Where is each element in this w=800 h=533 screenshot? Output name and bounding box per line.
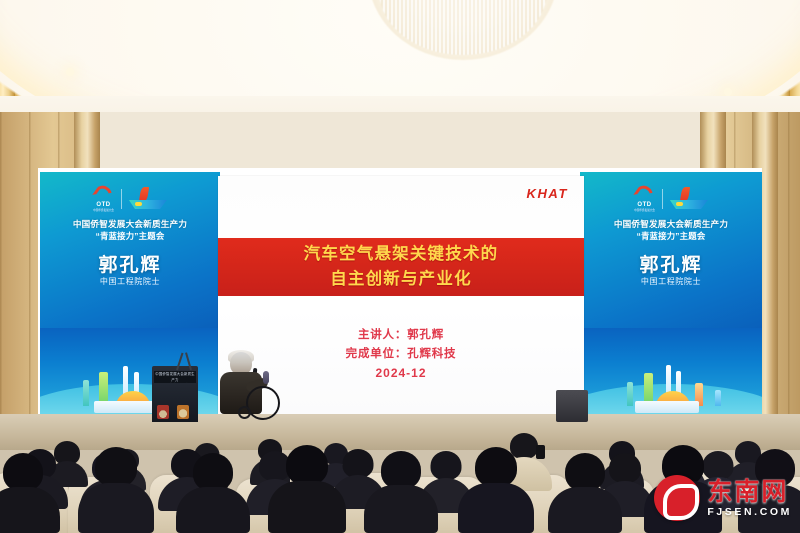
banner-headline-line1: 中国侨智发展大会新质生产力 xyxy=(580,218,762,230)
audience-person xyxy=(176,453,250,533)
otd-logo-icon: OTD 中国华侨发展大会 xyxy=(634,186,655,213)
handheld-microphone-icon xyxy=(263,371,269,384)
otd-logo-icon: OTD 中国华侨发展大会 xyxy=(93,186,114,213)
banner-speaker-role: 中国工程院院士 xyxy=(40,276,220,287)
smartphone-icon xyxy=(536,445,545,459)
otd-logo-text: OTD xyxy=(96,202,110,209)
audience-person xyxy=(364,451,438,533)
banner-speaker-role: 中国工程院院士 xyxy=(580,276,762,287)
banner-logo-row: OTD 中国华侨发展大会 xyxy=(580,184,762,214)
person-head xyxy=(475,447,517,487)
watermark: 东南网 FJSEN.COM xyxy=(654,471,792,525)
person-shoulders xyxy=(548,487,622,533)
conference-photo-scene: OTD 中国华侨发展大会 中国侨智发展大会新质生产力 “青蓝接力”主题会 郭孔辉… xyxy=(0,0,800,533)
person-head xyxy=(193,453,233,491)
dongnan-knot-logo-icon xyxy=(654,475,700,521)
logo-divider xyxy=(121,189,122,209)
person-shoulders xyxy=(364,485,438,533)
slide-title-line2: 自主创新与产业化 xyxy=(330,267,472,292)
hull-accent-icon xyxy=(135,202,142,206)
downlight-icon xyxy=(724,88,732,96)
person-shoulders xyxy=(0,487,60,533)
person-head xyxy=(3,453,43,491)
banner-speaker-name: 郭孔辉 xyxy=(40,250,220,277)
slide-presenter: 主讲人：郭孔辉 xyxy=(218,326,584,345)
audience-person xyxy=(458,447,534,533)
downlight-icon xyxy=(66,68,74,76)
person-shoulders xyxy=(78,483,154,533)
person-head xyxy=(565,453,605,491)
banner-headline-line2: “青蓝接力”主题会 xyxy=(40,230,220,242)
banner-speaker-name: 郭孔辉 xyxy=(580,250,762,277)
watermark-domain: FJSEN.COM xyxy=(707,506,792,518)
otd-logo-text: OTD xyxy=(637,202,651,209)
podium-signage: 中国侨智发展大会新质生产力 “青蓝接力”主题会 xyxy=(154,371,196,383)
banner-headline-line1: 中国侨智发展大会新质生产力 xyxy=(40,218,220,230)
slide-title-line1: 汽车空气悬架关键技术的 xyxy=(304,242,499,267)
person-shoulders xyxy=(458,483,534,533)
khat-logo: KHAT xyxy=(526,186,568,201)
person-shoulders xyxy=(268,481,346,533)
sail-icon xyxy=(139,187,149,202)
sail-icon xyxy=(680,187,690,202)
audience-person xyxy=(548,453,622,533)
audience-person xyxy=(78,447,154,533)
logo-divider xyxy=(662,189,663,209)
podium-signage-line1: 中国侨智发展大会新质生产力 xyxy=(155,372,195,382)
person-head xyxy=(381,451,421,489)
audience-person xyxy=(0,453,60,533)
audience-person xyxy=(268,445,346,533)
sail-boat-logo-icon xyxy=(129,187,167,211)
otd-logo-subtext: 中国华侨发展大会 xyxy=(93,209,114,213)
person-shoulders xyxy=(176,487,250,533)
banner-headline-line2: “青蓝接力”主题会 xyxy=(580,230,762,242)
watermark-text: 东南网 FJSEN.COM xyxy=(707,479,792,518)
hull-accent-icon xyxy=(676,202,683,206)
person-head xyxy=(95,447,137,487)
banner-logo-row: OTD 中国华侨发展大会 xyxy=(40,184,220,214)
sail-boat-logo-icon xyxy=(670,187,708,211)
slide-title-band: 汽车空气悬架关键技术的 自主创新与产业化 xyxy=(218,238,584,296)
watermark-site-name: 东南网 xyxy=(707,479,792,506)
person-head xyxy=(286,445,328,485)
banner-right: OTD 中国华侨发展大会 中国侨智发展大会新质生产力 “青蓝接力”主题会 郭孔辉… xyxy=(580,172,762,420)
otd-logo-subtext: 中国华侨发展大会 xyxy=(634,209,655,213)
